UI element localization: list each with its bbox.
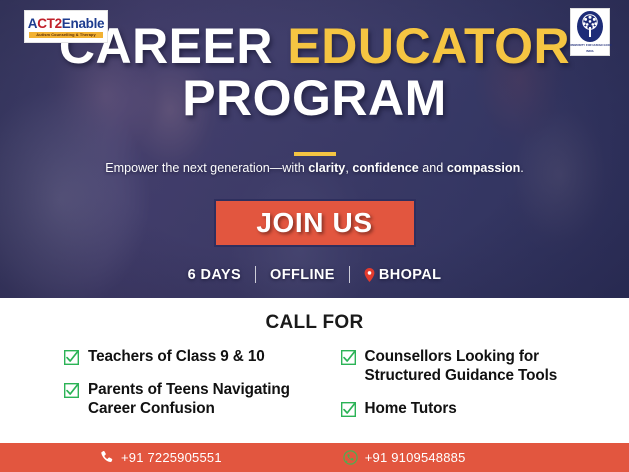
audience-section: CALL FOR Teachers of Class 9 & 10 — [0, 298, 629, 443]
act2enable-logo[interactable]: ACT2Enable Autism Counselling & Therapy — [24, 10, 108, 43]
list-item: Parents of Teens Navigating Career Confu… — [64, 381, 331, 419]
headline-line-2: PROGRAM — [0, 74, 629, 122]
tagline-period: . — [520, 161, 524, 175]
phone-number: +91 7225905551 — [121, 450, 222, 465]
check-box-icon — [341, 402, 356, 417]
list-item-label: Teachers of Class 9 & 10 — [88, 348, 265, 367]
list-item: Counsellors Looking for Structured Guida… — [341, 348, 608, 386]
tagline-confidence: confidence — [352, 161, 418, 175]
act2enable-logo-enable: Enable — [62, 16, 104, 31]
tree-icon — [577, 11, 603, 42]
event-location: BHOPAL — [350, 267, 456, 283]
join-us-button[interactable]: JOIN US — [214, 199, 416, 247]
tagline-suffix: and — [419, 161, 447, 175]
check-box-icon — [64, 350, 79, 365]
hero-section: ACT2Enable Autism Counselling & Therapy — [0, 0, 629, 298]
check-box-icon — [64, 383, 79, 398]
list-item-label: Home Tutors — [365, 400, 457, 419]
act2enable-logo-ct2: CT2 — [37, 16, 62, 31]
location-pin-icon — [364, 268, 375, 282]
contact-footer: +91 7225905551 +91 9109548885 — [0, 443, 629, 472]
audience-column-left: Teachers of Class 9 & 10 Parents of Teen… — [22, 348, 331, 419]
hero-tagline: Empower the next generation—with clarity… — [0, 160, 629, 178]
event-duration-label: 6 DAYS — [188, 267, 241, 283]
headline-word-educator: EDUCATOR — [287, 18, 570, 74]
whatsapp-icon — [343, 450, 358, 465]
act2enable-logo-a: A — [28, 16, 37, 31]
event-mode-label: OFFLINE — [270, 267, 335, 283]
list-item: Teachers of Class 9 & 10 — [64, 348, 331, 367]
event-mode: OFFLINE — [256, 267, 349, 283]
tagline-compassion: compassion — [447, 161, 520, 175]
tree-emblem-caption: COMMUNITY FOR HUMAN GOOD — [568, 44, 612, 48]
event-duration: 6 DAYS — [174, 267, 255, 283]
act2enable-logo-tagline: Autism Counselling & Therapy — [29, 32, 103, 38]
whatsapp-number: +91 9109548885 — [365, 450, 466, 465]
tagline-clarity: clarity — [308, 161, 345, 175]
tagline-prefix: Empower the next generation—with — [105, 161, 308, 175]
phone-contact[interactable]: +91 7225905551 — [99, 450, 222, 465]
tree-emblem-logo[interactable]: COMMUNITY FOR HUMAN GOOD INDIA — [570, 8, 610, 56]
career-educator-program-banner: ACT2Enable Autism Counselling & Therapy — [0, 0, 629, 472]
act2enable-logo-wordmark: ACT2Enable — [28, 17, 105, 31]
check-box-icon — [341, 350, 356, 365]
call-for-heading: CALL FOR — [0, 298, 629, 334]
event-details-row: 6 DAYS OFFLINE BHOPAL — [0, 266, 629, 283]
audience-lists: Teachers of Class 9 & 10 Parents of Teen… — [0, 334, 629, 419]
join-us-button-label: JOIN US — [256, 207, 372, 239]
whatsapp-contact[interactable]: +91 9109548885 — [343, 450, 466, 465]
audience-column-right: Counsellors Looking for Structured Guida… — [331, 348, 608, 419]
list-item-label: Counsellors Looking for Structured Guida… — [365, 348, 608, 386]
list-item-label: Parents of Teens Navigating Career Confu… — [88, 381, 331, 419]
list-item: Home Tutors — [341, 400, 608, 419]
gold-accent-bar — [294, 152, 336, 156]
phone-icon — [99, 450, 114, 465]
event-location-label: BHOPAL — [379, 267, 442, 283]
tree-emblem-subcaption: INDIA — [586, 50, 594, 54]
